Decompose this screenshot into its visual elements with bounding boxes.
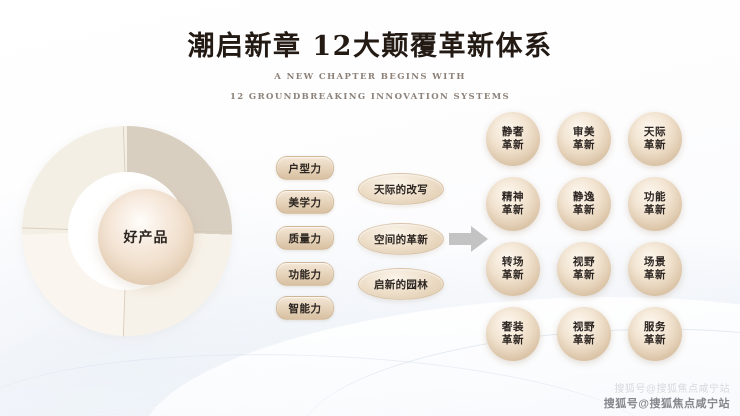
innovation-node-5[interactable]: 静逸 革新 bbox=[557, 177, 611, 231]
watermark: 搜狐号@搜狐焦点咸宁站 搜狐号@搜狐焦点咸宁站 bbox=[604, 382, 730, 412]
innovation-line-2: 革新 bbox=[573, 204, 595, 217]
capability-label: 户型力 bbox=[289, 161, 322, 176]
innovation-line-1: 静逸 bbox=[573, 191, 595, 204]
innovation-grid: 静奢 革新 审美 革新 天际 革新 精神 革新 静逸 革新 功能 革新 转场 革… bbox=[486, 112, 722, 362]
innovation-node-12[interactable]: 服务 革新 bbox=[628, 307, 682, 361]
theme-label: 空间的革新 bbox=[374, 232, 428, 247]
theme-ellipse-1[interactable]: 天际的改写 bbox=[358, 173, 444, 205]
innovation-node-3[interactable]: 天际 革新 bbox=[628, 112, 682, 166]
watermark-line-2: 搜狐号@搜狐焦点咸宁站 bbox=[604, 397, 730, 412]
innovation-node-6[interactable]: 功能 革新 bbox=[628, 177, 682, 231]
core-label: 好产品 bbox=[124, 227, 169, 247]
innovation-line-1: 静奢 bbox=[502, 126, 524, 139]
theme-ellipse-3[interactable]: 启新的园林 bbox=[358, 268, 444, 300]
capability-pill-4[interactable]: 功能力 bbox=[276, 262, 334, 286]
innovation-line-2: 革新 bbox=[502, 269, 524, 282]
innovation-line-1: 精神 bbox=[502, 191, 524, 204]
innovation-line-1: 审美 bbox=[573, 126, 595, 139]
innovation-line-1: 天际 bbox=[644, 126, 666, 139]
innovation-line-2: 革新 bbox=[644, 204, 666, 217]
theme-ellipse-2[interactable]: 空间的革新 bbox=[358, 223, 444, 255]
capability-pill-2[interactable]: 美学力 bbox=[276, 190, 334, 214]
innovation-node-2[interactable]: 审美 革新 bbox=[557, 112, 611, 166]
innovation-node-10[interactable]: 奢装 革新 bbox=[486, 307, 540, 361]
theme-label: 启新的园林 bbox=[374, 277, 428, 292]
innovation-line-1: 转场 bbox=[502, 256, 524, 269]
innovation-line-2: 革新 bbox=[644, 269, 666, 282]
capability-label: 质量力 bbox=[289, 231, 322, 246]
innovation-line-2: 革新 bbox=[502, 139, 524, 152]
innovation-node-7[interactable]: 转场 革新 bbox=[486, 242, 540, 296]
innovation-node-11[interactable]: 视野 革新 bbox=[557, 307, 611, 361]
innovation-line-1: 功能 bbox=[644, 191, 666, 204]
slide-canvas: 潮启新章 12大颠覆革新体系 A NEW CHAPTER BEGINS WITH… bbox=[0, 0, 740, 416]
capability-label: 功能力 bbox=[289, 267, 322, 282]
subtitle-line-1: A NEW CHAPTER BEGINS WITH bbox=[0, 70, 740, 84]
arrow-right-icon bbox=[449, 224, 489, 254]
innovation-line-1: 视野 bbox=[573, 256, 595, 269]
innovation-line-2: 革新 bbox=[502, 204, 524, 217]
innovation-line-1: 视野 bbox=[573, 321, 595, 334]
innovation-line-2: 革新 bbox=[573, 334, 595, 347]
innovation-line-1: 服务 bbox=[644, 321, 666, 334]
watermark-line-1: 搜狐号@搜狐焦点咸宁站 bbox=[604, 382, 730, 397]
capability-pill-3[interactable]: 质量力 bbox=[276, 226, 334, 250]
innovation-node-8[interactable]: 视野 革新 bbox=[557, 242, 611, 296]
innovation-line-2: 革新 bbox=[573, 139, 595, 152]
innovation-line-1: 场景 bbox=[644, 256, 666, 269]
page-title: 潮启新章 12大颠覆革新体系 bbox=[0, 30, 740, 64]
innovation-line-2: 革新 bbox=[644, 334, 666, 347]
capability-pill-5[interactable]: 智能力 bbox=[276, 296, 334, 320]
innovation-line-2: 革新 bbox=[502, 334, 524, 347]
capability-pill-1[interactable]: 户型力 bbox=[276, 156, 334, 180]
innovation-node-9[interactable]: 场景 革新 bbox=[628, 242, 682, 296]
innovation-line-2: 革新 bbox=[644, 139, 666, 152]
innovation-line-1: 奢装 bbox=[502, 321, 524, 334]
core-sphere: 好产品 bbox=[98, 189, 194, 285]
capability-label: 美学力 bbox=[289, 195, 322, 210]
title-block: 潮启新章 12大颠覆革新体系 A NEW CHAPTER BEGINS WITH… bbox=[0, 30, 740, 104]
capability-label: 智能力 bbox=[289, 301, 322, 316]
subtitle-line-2: 12 GROUNDBREAKING INNOVATION SYSTEMS bbox=[0, 90, 740, 104]
theme-label: 天际的改写 bbox=[374, 182, 428, 197]
innovation-node-4[interactable]: 精神 革新 bbox=[486, 177, 540, 231]
innovation-line-2: 革新 bbox=[573, 269, 595, 282]
innovation-node-1[interactable]: 静奢 革新 bbox=[486, 112, 540, 166]
